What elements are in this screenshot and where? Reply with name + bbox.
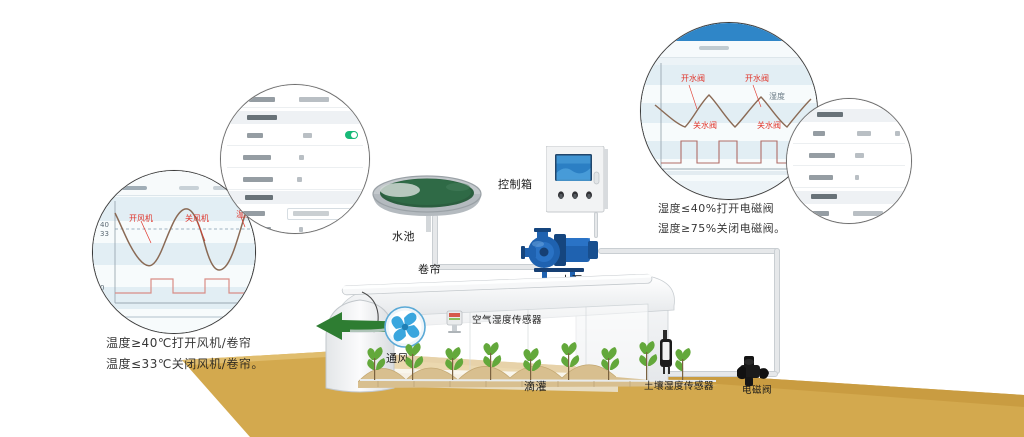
label-water-pool: 水池 [392, 228, 415, 244]
temperature-settings-panel[interactable] [221, 85, 369, 233]
annotation-humidity-series: 湿度 [769, 91, 785, 102]
greenhouse-control-diagram: 水池 控制箱 [0, 0, 1024, 437]
axis-zero-tick: 0 [100, 284, 104, 292]
label-control-box: 控制箱 [498, 176, 533, 192]
note-humidity-line-1: 湿度≤40%打开电磁阀 [658, 200, 786, 216]
label-roller-blind: 卷帘 [418, 261, 441, 277]
annotation-fan-on: 开风机 [129, 213, 153, 224]
note-humidity-rules: 湿度≤40%打开电磁阀 湿度≥75%关闭电磁阀。 [658, 200, 786, 232]
label-solenoid-valve: 电磁阀 [742, 382, 772, 396]
water-pool [372, 172, 482, 232]
panel-toggle-switch[interactable] [345, 131, 358, 139]
callout-humidity-settings [786, 98, 912, 224]
annotation-valve-close-1: 关水阀 [693, 120, 717, 131]
annotation-valve-open-1: 开水阀 [681, 73, 705, 84]
label-air-humidity-sensor: 空气湿度传感器 [472, 312, 542, 326]
annotation-valve-open-2: 开水阀 [745, 73, 769, 84]
annotation-fan-off: 关风机 [185, 213, 209, 224]
note-temperature-line-2: 温度≤33℃关闭风机/卷帘。 [106, 355, 264, 372]
callout-temperature-settings [220, 84, 370, 234]
humidity-settings-panel[interactable] [787, 99, 911, 223]
note-humidity-line-2: 湿度≥75%关闭电磁阀。 [658, 220, 786, 236]
label-drip-irrigation: 滴灌 [524, 378, 547, 394]
note-temperature-line-1: 温度≥40℃打开风机/卷帘 [106, 334, 264, 351]
axis-tick-40: 40 [100, 221, 109, 229]
label-soil-humidity-sensor: 土壤湿度传感器 [644, 378, 714, 392]
axis-tick-33: 33 [100, 230, 109, 238]
annotation-valve-close-2: 关水阀 [757, 120, 781, 131]
note-temperature-rules: 温度≥40℃打开风机/卷帘 温度≤33℃关闭风机/卷帘。 [106, 334, 264, 368]
soil-humidity-sensor-device [660, 330, 676, 374]
control-box[interactable] [546, 146, 608, 214]
